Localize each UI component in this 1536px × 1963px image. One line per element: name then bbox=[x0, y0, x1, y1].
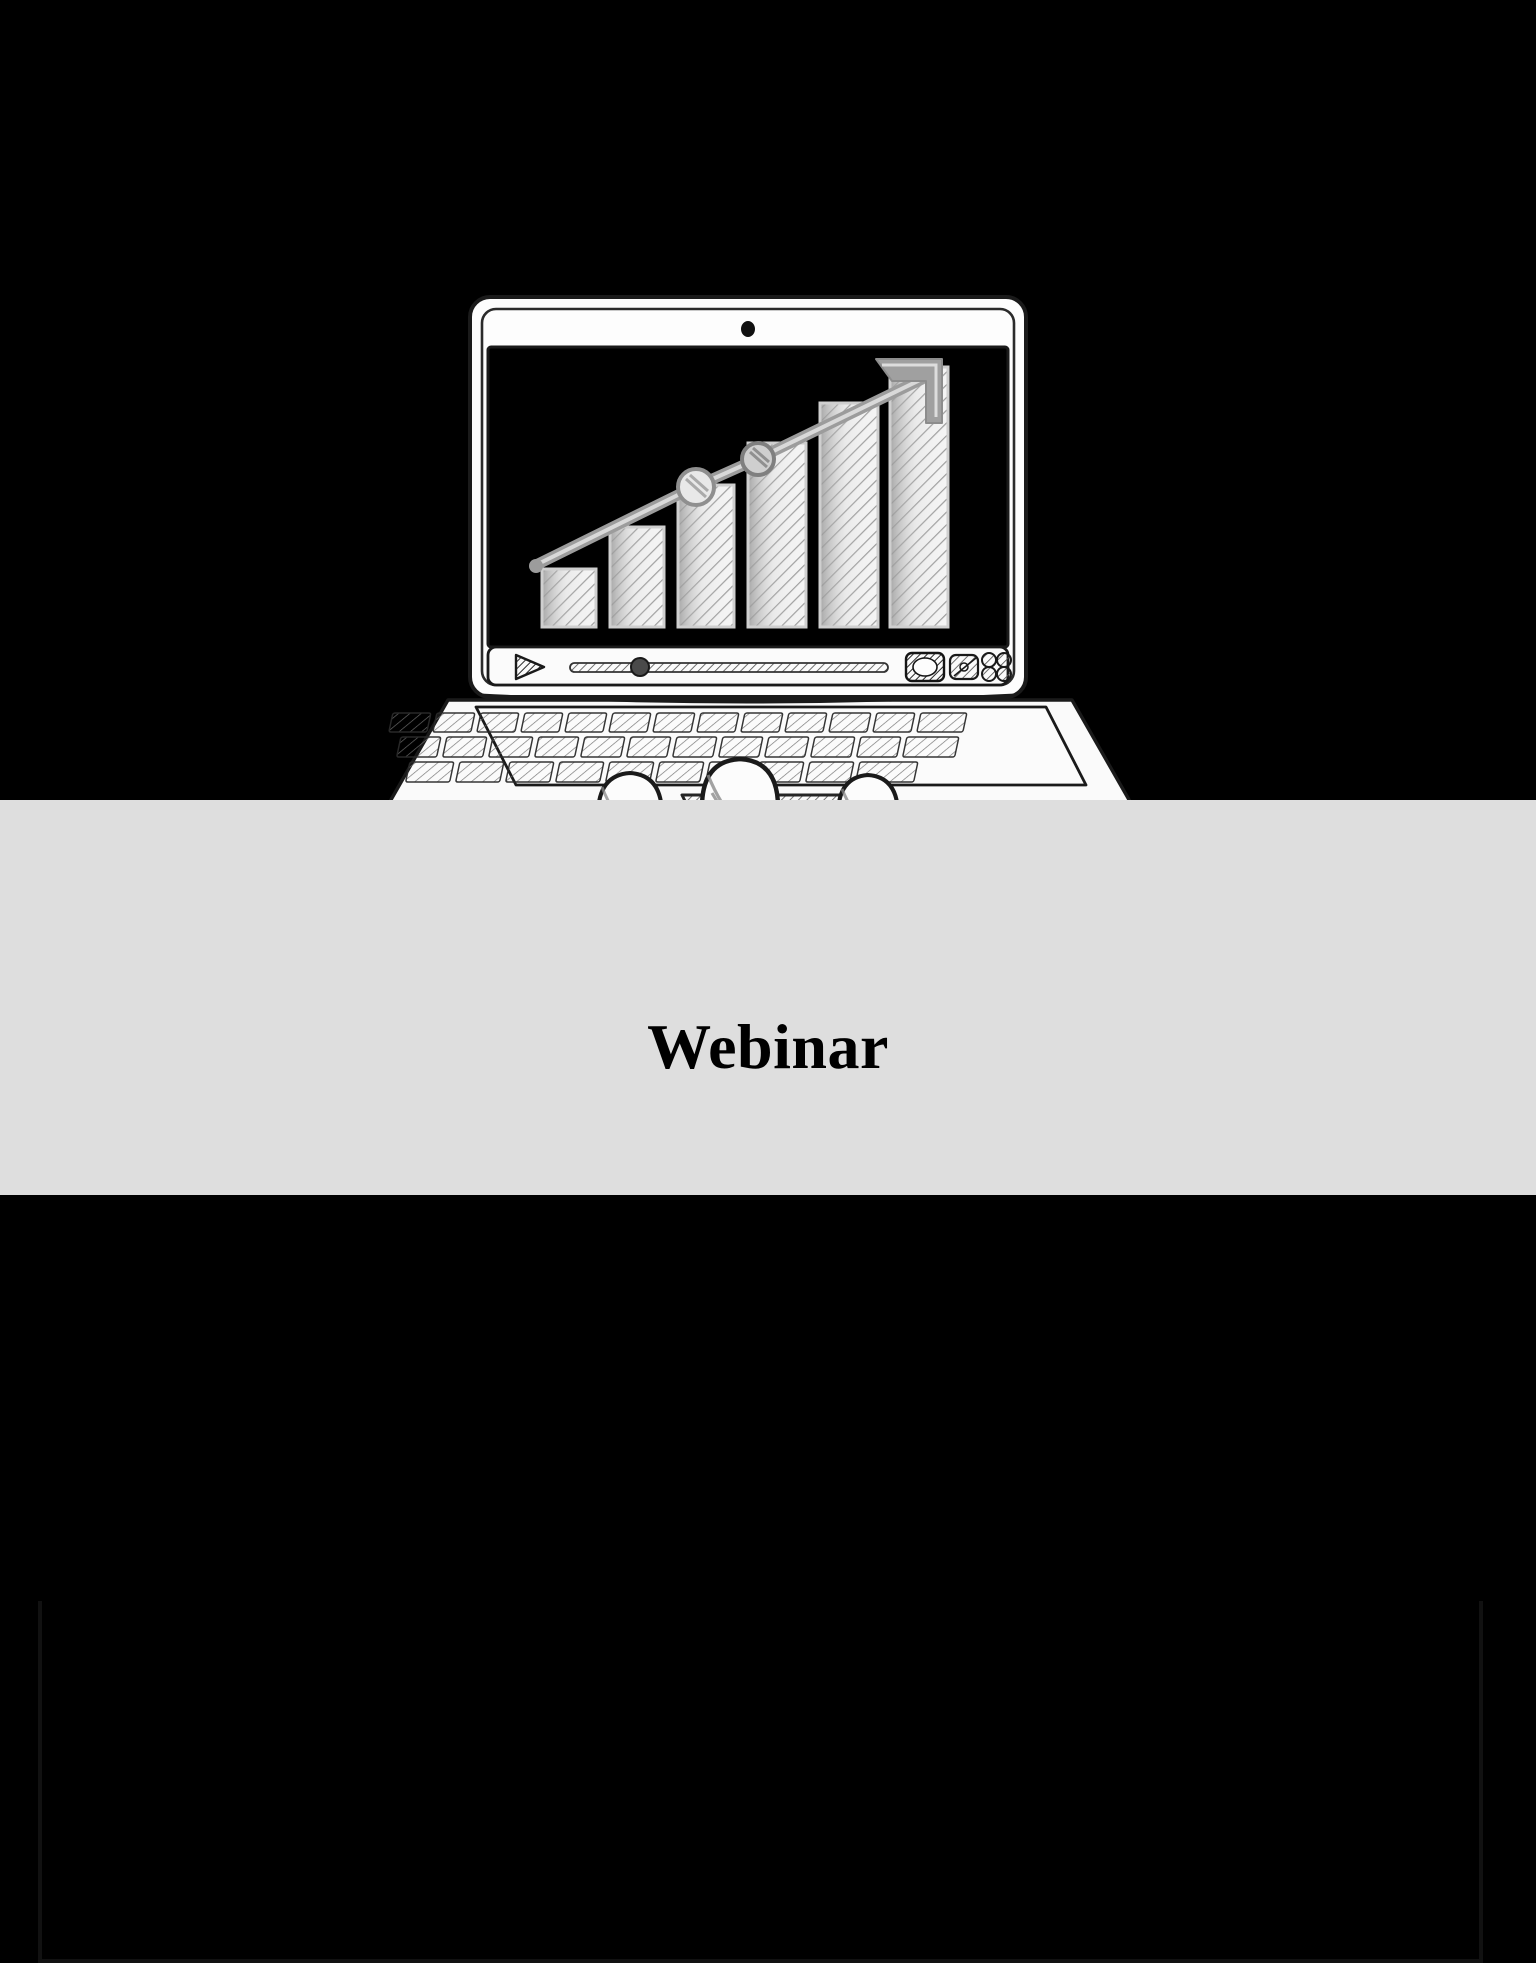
chart-bar bbox=[610, 527, 664, 627]
chart-bar bbox=[890, 367, 948, 627]
bar-chart bbox=[529, 359, 948, 627]
chart-bar bbox=[748, 443, 806, 627]
progress-slider bbox=[570, 658, 888, 676]
sketch-illustration-scene: Webinar bbox=[0, 0, 1536, 1195]
play-button bbox=[516, 655, 544, 679]
trend-node-2 bbox=[742, 443, 774, 475]
caption-title: Webinar bbox=[0, 1015, 1536, 1079]
webcam bbox=[741, 321, 755, 337]
chart-bar bbox=[678, 485, 734, 627]
trend-node-1 bbox=[678, 469, 714, 505]
chart-bar bbox=[820, 403, 878, 627]
chart-bar bbox=[542, 569, 596, 627]
growth-trend-arrow bbox=[529, 359, 942, 573]
laptop-lid bbox=[470, 297, 1026, 702]
caption-panel bbox=[0, 800, 1536, 1195]
caption-inner-border bbox=[38, 1601, 1483, 1963]
fullscreen-grid-button bbox=[982, 653, 1011, 681]
progress-slider-thumb bbox=[631, 658, 649, 676]
video-control-bar bbox=[488, 647, 1011, 685]
settings-button bbox=[950, 655, 978, 679]
subtitles-button bbox=[906, 653, 944, 681]
